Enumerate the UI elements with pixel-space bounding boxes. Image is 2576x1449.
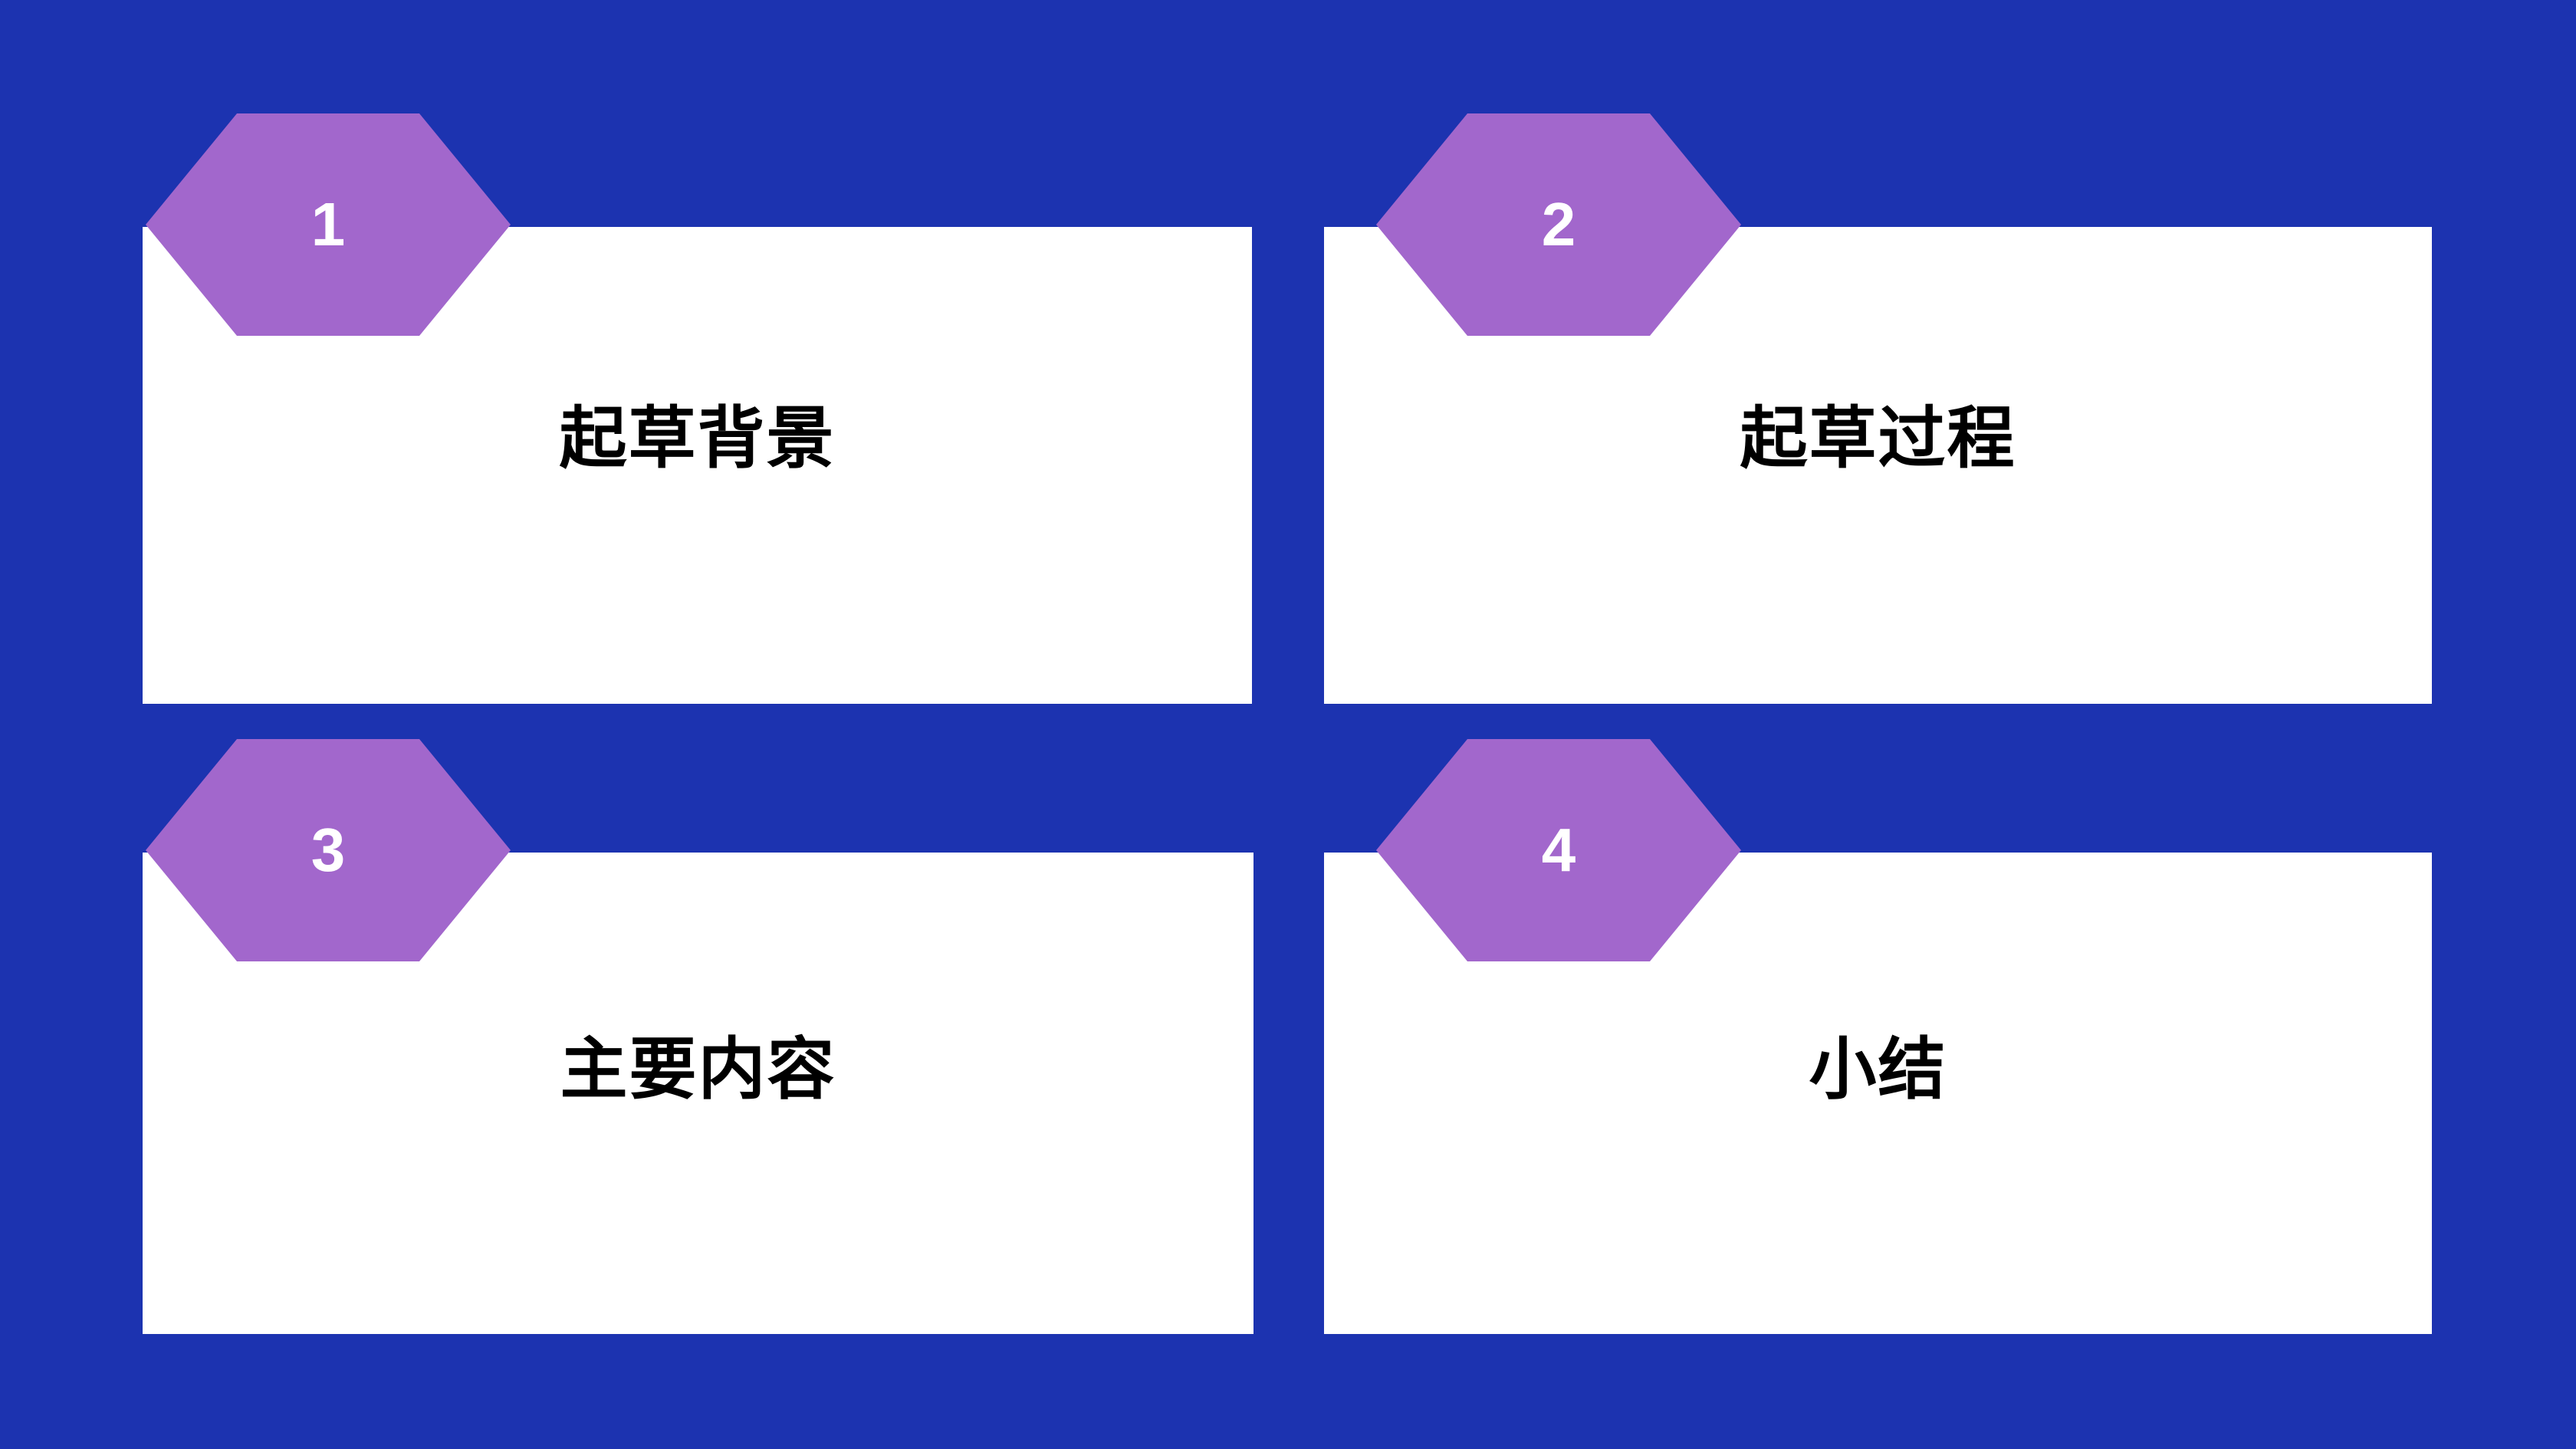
agenda-card-1-title: 起草背景 bbox=[143, 402, 1252, 476]
agenda-slide: 起草背景 1 起草过程 2 主要内容 3 小结 4 bbox=[0, 0, 2576, 1449]
agenda-card-4-title: 小结 bbox=[1324, 1033, 2432, 1107]
agenda-card-2-title: 起草过程 bbox=[1324, 402, 2432, 476]
agenda-card-3-title: 主要内容 bbox=[143, 1033, 1253, 1107]
